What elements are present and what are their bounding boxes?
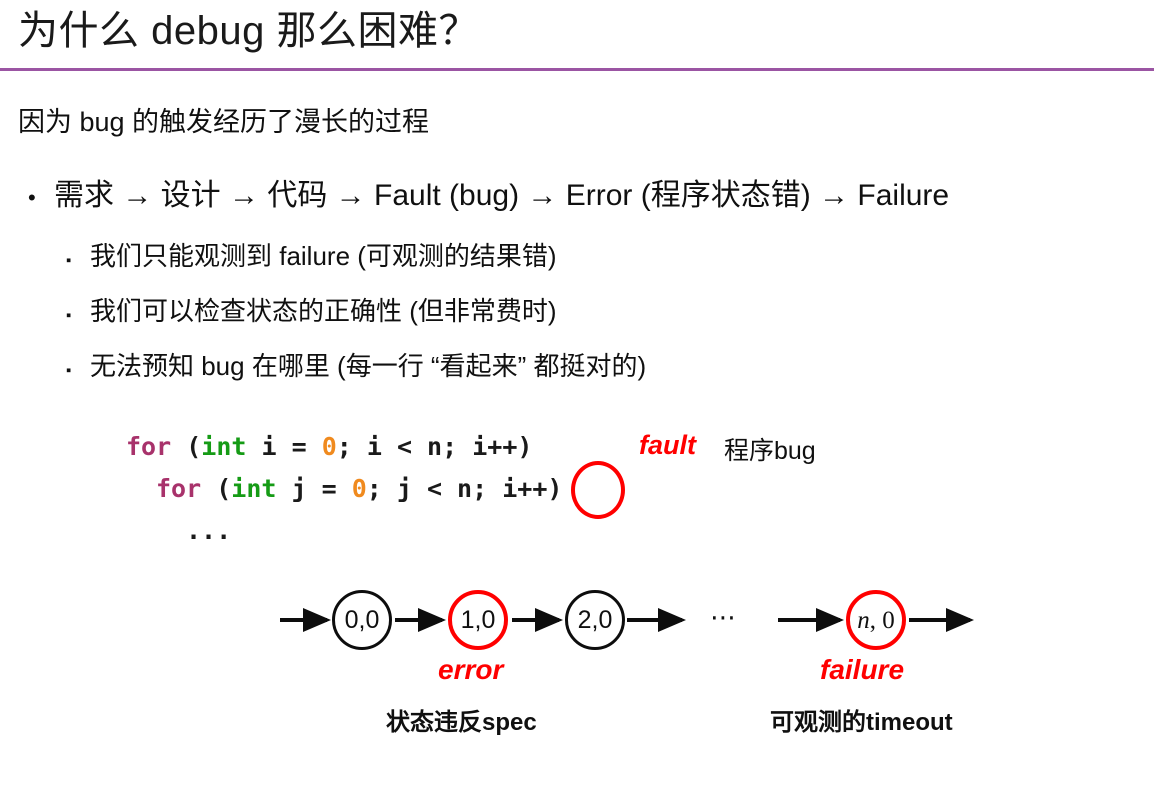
code-text: ; j < n; i++): [367, 474, 563, 503]
state-node-2-0: 2,0: [565, 590, 625, 650]
bullet-square-icon: ▪: [66, 308, 90, 323]
state-node-n-0: n, 0: [846, 590, 906, 650]
code-line-2: for (int j = 0; j < n; i++): [126, 468, 562, 510]
code-line-1: for (int i = 0; i < n; i++): [126, 426, 562, 468]
page-title: 为什么 debug 那么困难？: [18, 6, 479, 56]
state-node-n-0-label: n: [857, 608, 870, 633]
code-type-int: int: [231, 474, 276, 503]
code-keyword-for: for: [156, 474, 201, 503]
code-text: i =: [246, 432, 321, 461]
bullet-level1-label: 需求 → 设计 → 代码 → Fault (bug) → Error (程序状态…: [54, 170, 949, 214]
failure-label: failure: [820, 654, 904, 686]
code-type-int: int: [201, 432, 246, 461]
bullet-level1: • 需求 → 设计 → 代码 → Fault (bug) → Error (程序…: [28, 170, 949, 214]
state-node-1-0: 1,0: [448, 590, 508, 650]
red-circle-annotation-icon: [571, 461, 625, 519]
diagram-ellipsis: ⋯: [710, 602, 739, 633]
bullet-level2-3: ▪ 无法预知 bug 在哪里 (每一行 “看起来” 都挺对的): [66, 346, 646, 383]
bullet-level2-1-label: 我们只能观测到 failure (可观测的结果错): [90, 236, 557, 273]
bullet-level2-2: ▪ 我们可以检查状态的正确性 (但非常费时): [66, 291, 557, 328]
code-number: 0: [322, 432, 337, 461]
bullet-square-icon: ▪: [66, 363, 90, 378]
title-divider: [0, 68, 1154, 71]
bullet-level2-2-label: 我们可以检查状态的正确性 (但非常费时): [90, 291, 557, 328]
bullet-level2-3-label: 无法预知 bug 在哪里 (每一行 “看起来” 都挺对的): [90, 346, 646, 383]
state-node-1-0-label: 1,0: [461, 608, 496, 633]
error-label: error: [438, 654, 503, 686]
code-line-3: ...: [126, 510, 562, 552]
code-punct: (: [201, 474, 231, 503]
code-number: 0: [352, 474, 367, 503]
bullet-dot-icon: •: [28, 187, 54, 209]
bullet-level2-1: ▪ 我们只能观测到 failure (可观测的结果错): [66, 236, 557, 273]
fault-annotation-note: 程序bug: [724, 431, 816, 467]
bullet-square-icon: ▪: [66, 253, 90, 268]
code-text: ; i < n; i++): [337, 432, 533, 461]
state-node-2-0-label: 2,0: [578, 608, 613, 633]
state-diagram: 0,0 1,0 2,0 ⋯ n, 0 error failure: [270, 572, 1010, 672]
subtitle-text: 因为 bug 的触发经历了漫长的过程: [18, 100, 429, 139]
state-node-0-0: 0,0: [332, 590, 392, 650]
fault-annotation-label: fault: [639, 430, 696, 461]
code-punct: (: [171, 432, 201, 461]
code-text: j =: [276, 474, 351, 503]
state-node-n-0-label-rest: , 0: [870, 608, 895, 633]
state-node-0-0-label: 0,0: [345, 608, 380, 633]
code-keyword-for: for: [126, 432, 171, 461]
caption-failure: 可观测的timeout: [770, 702, 953, 737]
code-block: for (int i = 0; i < n; i++)for (int j = …: [126, 426, 562, 552]
caption-error: 状态违反spec: [386, 702, 537, 737]
